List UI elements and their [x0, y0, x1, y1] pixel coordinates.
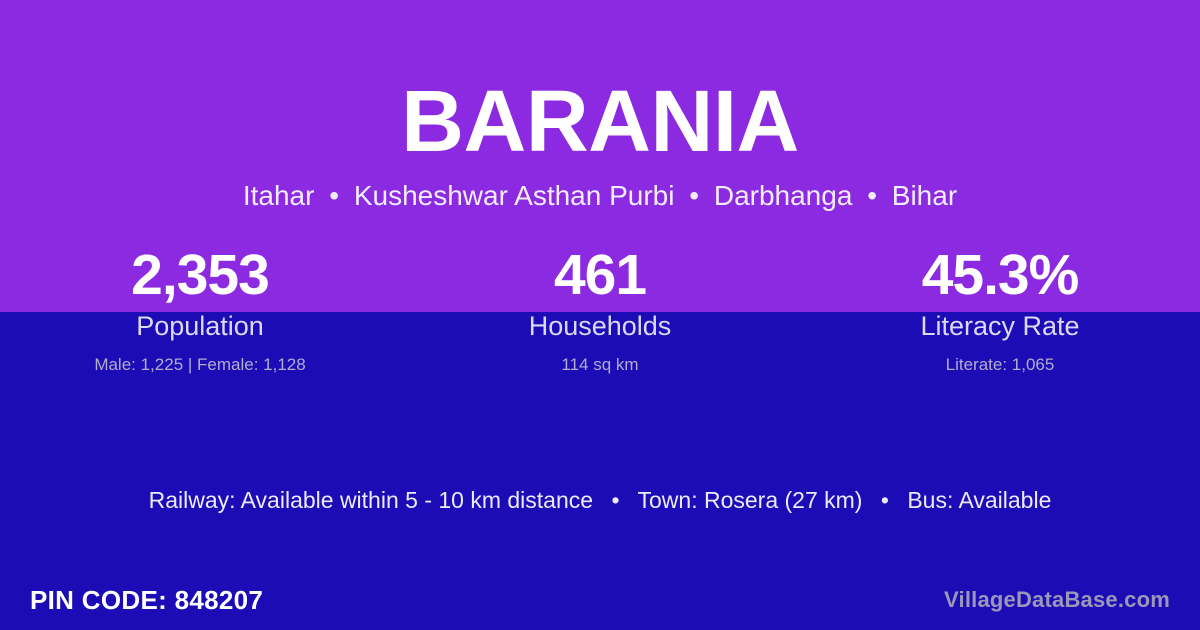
breadcrumb-separator: •: [322, 180, 346, 211]
amenities-line: Railway: Available within 5 - 10 km dist…: [0, 484, 1200, 516]
stat-label: Households: [400, 307, 800, 343]
stat-subtext: Literate: 1,065: [800, 343, 1200, 377]
stat-subtext: 114 sq km: [400, 343, 800, 377]
stat-literacy-rate: 45.3% Literacy Rate Literate: 1,065: [800, 243, 1200, 377]
breadcrumb-separator: •: [860, 180, 884, 211]
breadcrumb-item-state: Bihar: [892, 180, 957, 211]
amenity-bus: Bus: Available: [907, 487, 1051, 513]
stats-row: 2,353 Population Male: 1,225 | Female: 1…: [0, 243, 1200, 377]
breadcrumb-item-subdistrict: Kusheshwar Asthan Purbi: [354, 180, 675, 211]
stat-households: 461 Households 114 sq km: [400, 243, 800, 377]
amenity-railway: Railway: Available within 5 - 10 km dist…: [149, 487, 593, 513]
stat-value: 461: [400, 243, 800, 307]
stat-subtext: Male: 1,225 | Female: 1,128: [0, 343, 400, 377]
card-header: BARANIA Itahar • Kusheshwar Asthan Purbi…: [0, 0, 1200, 213]
amenity-separator: •: [869, 487, 901, 513]
stat-value: 2,353: [0, 243, 400, 307]
amenity-separator: •: [599, 487, 631, 513]
stat-label: Population: [0, 307, 400, 343]
breadcrumb: Itahar • Kusheshwar Asthan Purbi • Darbh…: [0, 165, 1200, 213]
site-watermark: VillageDataBase.com: [944, 587, 1170, 613]
stat-label: Literacy Rate: [800, 307, 1200, 343]
amenity-town: Town: Rosera (27 km): [638, 487, 863, 513]
stat-value: 45.3%: [800, 243, 1200, 307]
village-info-card: BARANIA Itahar • Kusheshwar Asthan Purbi…: [0, 0, 1200, 630]
breadcrumb-item-district: Darbhanga: [714, 180, 853, 211]
stat-population: 2,353 Population Male: 1,225 | Female: 1…: [0, 243, 400, 377]
breadcrumb-item-block: Itahar: [243, 180, 315, 211]
breadcrumb-separator: •: [682, 180, 706, 211]
card-footer: PIN CODE: 848207 VillageDataBase.com: [0, 570, 1200, 630]
pin-code: PIN CODE: 848207: [30, 585, 263, 616]
page-title: BARANIA: [0, 0, 1200, 165]
